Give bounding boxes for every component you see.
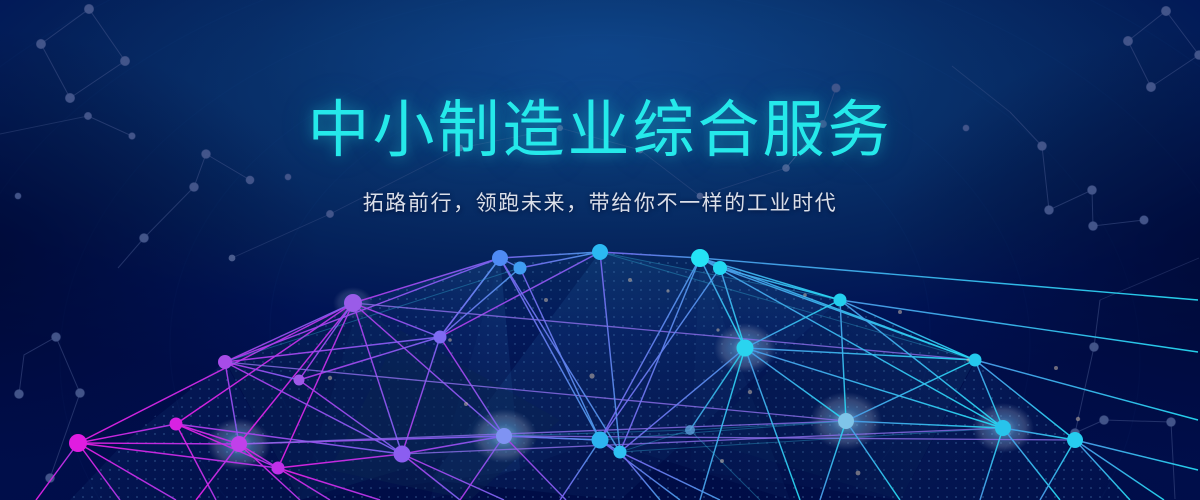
hero-text-block: 中小制造业综合服务 拓路前行，领跑未来，带给你不一样的工业时代	[0, 98, 1200, 217]
network-graphic	[0, 0, 1200, 500]
page-title: 中小制造业综合服务	[0, 98, 1200, 165]
hero-banner: 中小制造业综合服务 拓路前行，领跑未来，带给你不一样的工业时代	[0, 0, 1200, 500]
page-subtitle: 拓路前行，领跑未来，带给你不一样的工业时代	[0, 187, 1200, 217]
